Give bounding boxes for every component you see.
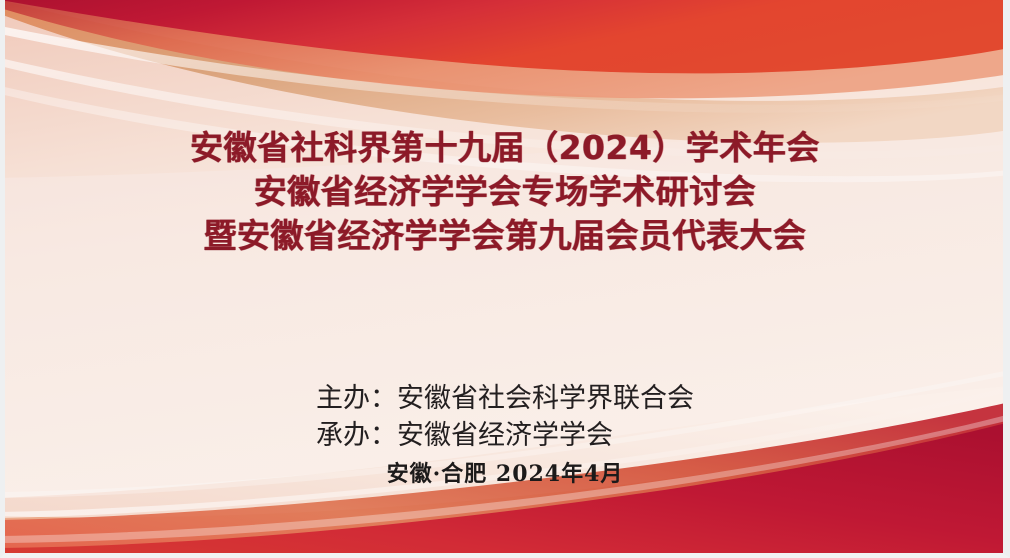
organizer-block: 主办：安徽省社会科学界联合会 承办：安徽省经济学学会 [0,380,1010,454]
slide-content: 安徽省社科界第十九届（2024）学术年会 安徽省经济学学会专场学术研讨会 暨安徽… [0,0,1010,558]
title-line-2: 安徽省经济学学会专场学术研讨会 [0,170,1010,214]
title-line-1: 安徽省社科界第十九届（2024）学术年会 [0,126,1010,170]
place-and-date: 安徽·合肥 2024年4月 [0,459,1010,489]
title-slide: 安徽省社科界第十九届（2024）学术年会 安徽省经济学学会专场学术研讨会 暨安徽… [0,0,1010,558]
conference-title: 安徽省社科界第十九届（2024）学术年会 安徽省经济学学会专场学术研讨会 暨安徽… [0,126,1010,258]
title-line-3: 暨安徽省经济学学会第九届会员代表大会 [0,214,1010,258]
host-organization: 主办：安徽省社会科学界联合会 [316,380,694,417]
co-host-organization: 承办：安徽省经济学学会 [316,417,694,454]
